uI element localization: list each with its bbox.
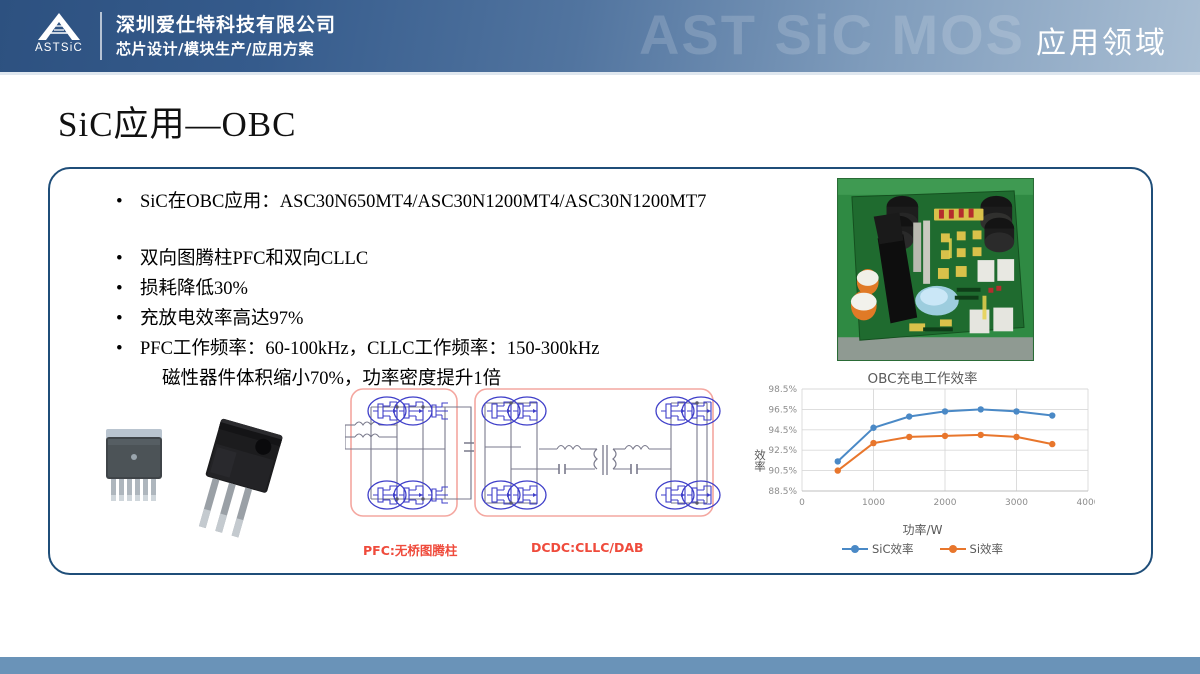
chart-x-axis-label: 功率/W xyxy=(750,521,1095,538)
header-watermark-text: AST SiC MOS xyxy=(639,2,1025,67)
list-item: • 双向图腾柱PFC和双向CLLC xyxy=(116,244,776,274)
logo-wordmark: ASTSiC xyxy=(26,42,92,54)
svg-text:94.5%: 94.5% xyxy=(768,426,797,436)
svg-text:3000: 3000 xyxy=(1005,498,1028,508)
bullet-label: 双向图腾柱PFC和双向CLLC xyxy=(140,244,368,274)
company-name: 深圳爱仕特科技有限公司 xyxy=(116,12,336,38)
page-title: SiC应用—OBC xyxy=(58,96,297,147)
bullet-label: 充放电效率高达97% xyxy=(140,304,303,334)
svg-text:90.5%: 90.5% xyxy=(768,467,797,477)
bullet-label: 损耗降低30% xyxy=(140,274,248,304)
company-tagline: 芯片设计/模块生产/应用方案 xyxy=(116,38,336,60)
slide-root: AST SiC MOS ASTSiC 深圳爱仕特科技有限公司 芯片设计/模块生产… xyxy=(0,0,1200,674)
device-photos xyxy=(88,407,308,557)
bullet-marker: • xyxy=(116,274,140,304)
section-title: 应用领域 xyxy=(1036,18,1168,62)
chart-plot-area: 88.5%90.5%92.5%94.5%96.5%98.5%0100020003… xyxy=(750,383,1095,523)
pfc-stage-label: PFC:无桥图腾柱 xyxy=(363,540,457,559)
svg-text:88.5%: 88.5% xyxy=(768,487,797,497)
slide-header: AST SiC MOS ASTSiC 深圳爱仕特科技有限公司 芯片设计/模块生产… xyxy=(0,0,1200,72)
svg-text:2000: 2000 xyxy=(934,498,957,508)
bullet-label: PFC工作频率：60-100kHz，CLLC工作频率：150-300kHz xyxy=(140,334,599,364)
svg-text:96.5%: 96.5% xyxy=(768,405,797,415)
list-item: • 充放电效率高达97% xyxy=(116,304,776,334)
svg-text:4000: 4000 xyxy=(1077,498,1095,508)
legend-label-sic: SiC效率 xyxy=(872,541,914,557)
sic-mosfet-toll-package xyxy=(106,429,162,501)
dcdc-stage-label: DCDC:CLLC/DAB xyxy=(531,540,644,555)
obc-board-photo xyxy=(837,178,1034,361)
svg-text:98.5%: 98.5% xyxy=(768,385,797,395)
bullet-marker: • xyxy=(116,334,140,364)
ast-triangle-logo-icon xyxy=(36,11,82,41)
efficiency-chart: OBC充电工作效率 效率 88.5%90.5%92.5%94.5%96.5%98… xyxy=(750,367,1095,565)
bullet-label: SiC在OBC应用：ASC30N650MT4/ASC30N1200MT4/ASC… xyxy=(140,187,706,217)
legend-swatch-si xyxy=(940,548,966,551)
bullet-marker: • xyxy=(116,187,140,217)
company-identity: 深圳爱仕特科技有限公司 芯片设计/模块生产/应用方案 xyxy=(116,12,336,60)
content-card: • SiC在OBC应用：ASC30N650MT4/ASC30N1200MT4/A… xyxy=(48,167,1153,575)
chart-legend: SiC效率 Si效率 xyxy=(750,541,1095,557)
list-item: • 损耗降低30% xyxy=(116,274,776,304)
header-underline xyxy=(0,72,1200,75)
list-item: • PFC工作频率：60-100kHz，CLLC工作频率：150-300kHz xyxy=(116,334,776,364)
legend-item-sic: SiC效率 xyxy=(842,541,914,557)
svg-text:92.5%: 92.5% xyxy=(768,446,797,456)
bullet-list: • SiC在OBC应用：ASC30N650MT4/ASC30N1200MT4/A… xyxy=(116,187,776,394)
bullet-marker: • xyxy=(116,244,140,274)
bullet-spacer xyxy=(116,217,776,244)
bullet-marker: • xyxy=(116,304,140,334)
legend-label-si: Si效率 xyxy=(970,541,1004,557)
sic-package-photos-icon xyxy=(88,407,308,557)
pcb-illustration-icon xyxy=(838,179,1033,360)
list-item: • SiC在OBC应用：ASC30N650MT4/ASC30N1200MT4/A… xyxy=(116,187,776,217)
legend-swatch-sic xyxy=(842,548,868,551)
svg-text:1000: 1000 xyxy=(862,498,885,508)
sic-mosfet-to247-package xyxy=(191,418,283,541)
company-logo: ASTSiC xyxy=(26,9,92,63)
header-divider xyxy=(100,12,102,60)
footer-bar xyxy=(0,657,1200,674)
legend-item-si: Si效率 xyxy=(940,541,1004,557)
svg-text:0: 0 xyxy=(799,498,805,508)
